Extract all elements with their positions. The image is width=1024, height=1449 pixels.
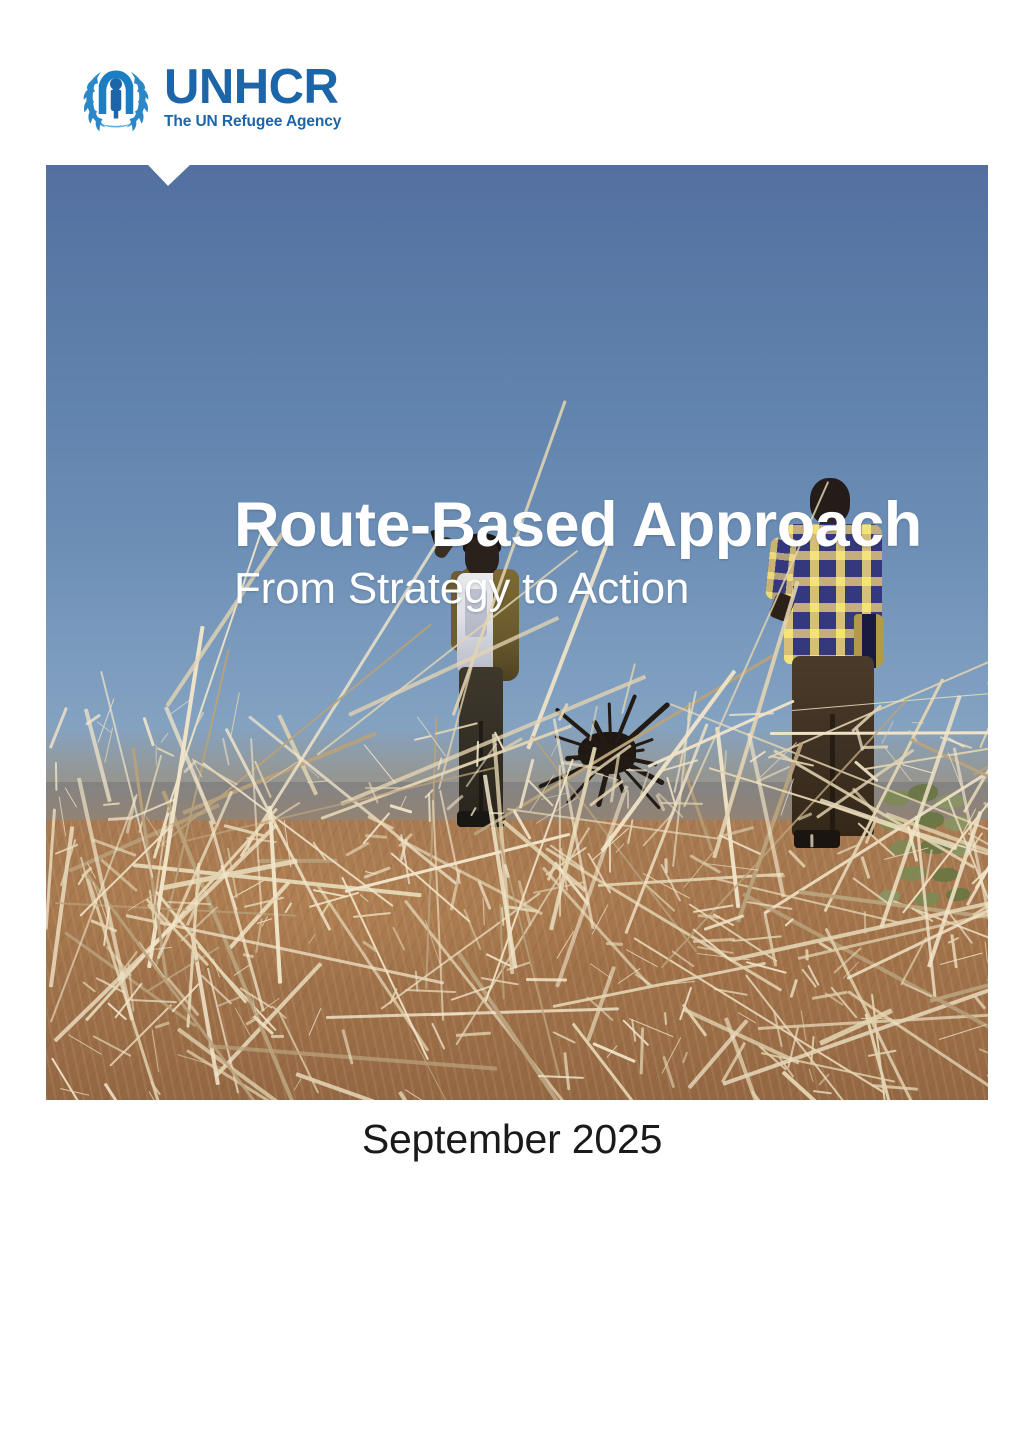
leaf-cluster: [914, 892, 940, 906]
leaf-cluster: [890, 840, 916, 855]
unhcr-emblem-icon: [78, 60, 154, 132]
unhcr-wordmark-group: UNHCR The UN Refugee Agency: [164, 64, 341, 131]
page-subtitle: From Strategy to Action: [234, 565, 988, 613]
cover-photograph: © UNHCR/Andrew McConnell Route-Based App…: [46, 165, 988, 1100]
document-page: UNHCR The UN Refugee Agency: [0, 0, 1024, 1449]
leaf-cluster: [920, 838, 950, 854]
green-foliage: [874, 782, 988, 932]
unhcr-wordmark: UNHCR: [164, 64, 341, 111]
figure-right-shoes: [794, 830, 840, 848]
leaf-cluster: [946, 888, 970, 901]
page-title: Route-Based Approach: [234, 493, 988, 559]
leaf-cluster: [898, 866, 926, 881]
leaf-cluster: [950, 842, 974, 856]
unhcr-tagline: The UN Refugee Agency: [164, 113, 341, 130]
leaf-cluster: [878, 890, 900, 903]
burnt-bush: [526, 698, 696, 808]
publication-date: September 2025: [0, 1116, 1024, 1163]
cover-title-block: Route-Based Approach From Strategy to Ac…: [234, 493, 988, 613]
leaf-cluster: [880, 816, 904, 830]
leaf-cluster: [884, 790, 910, 806]
leaf-cluster: [936, 794, 964, 809]
unhcr-logo: UNHCR The UN Refugee Agency: [78, 57, 358, 135]
leaf-cluster: [908, 784, 938, 802]
leaf-cluster: [944, 816, 970, 831]
figure-left-leg-gap: [479, 721, 483, 817]
leaf-cluster: [932, 868, 958, 882]
figure-left-shoes: [457, 811, 505, 827]
leaf-cluster: [912, 812, 944, 829]
figure-right-leg-gap: [830, 714, 835, 839]
